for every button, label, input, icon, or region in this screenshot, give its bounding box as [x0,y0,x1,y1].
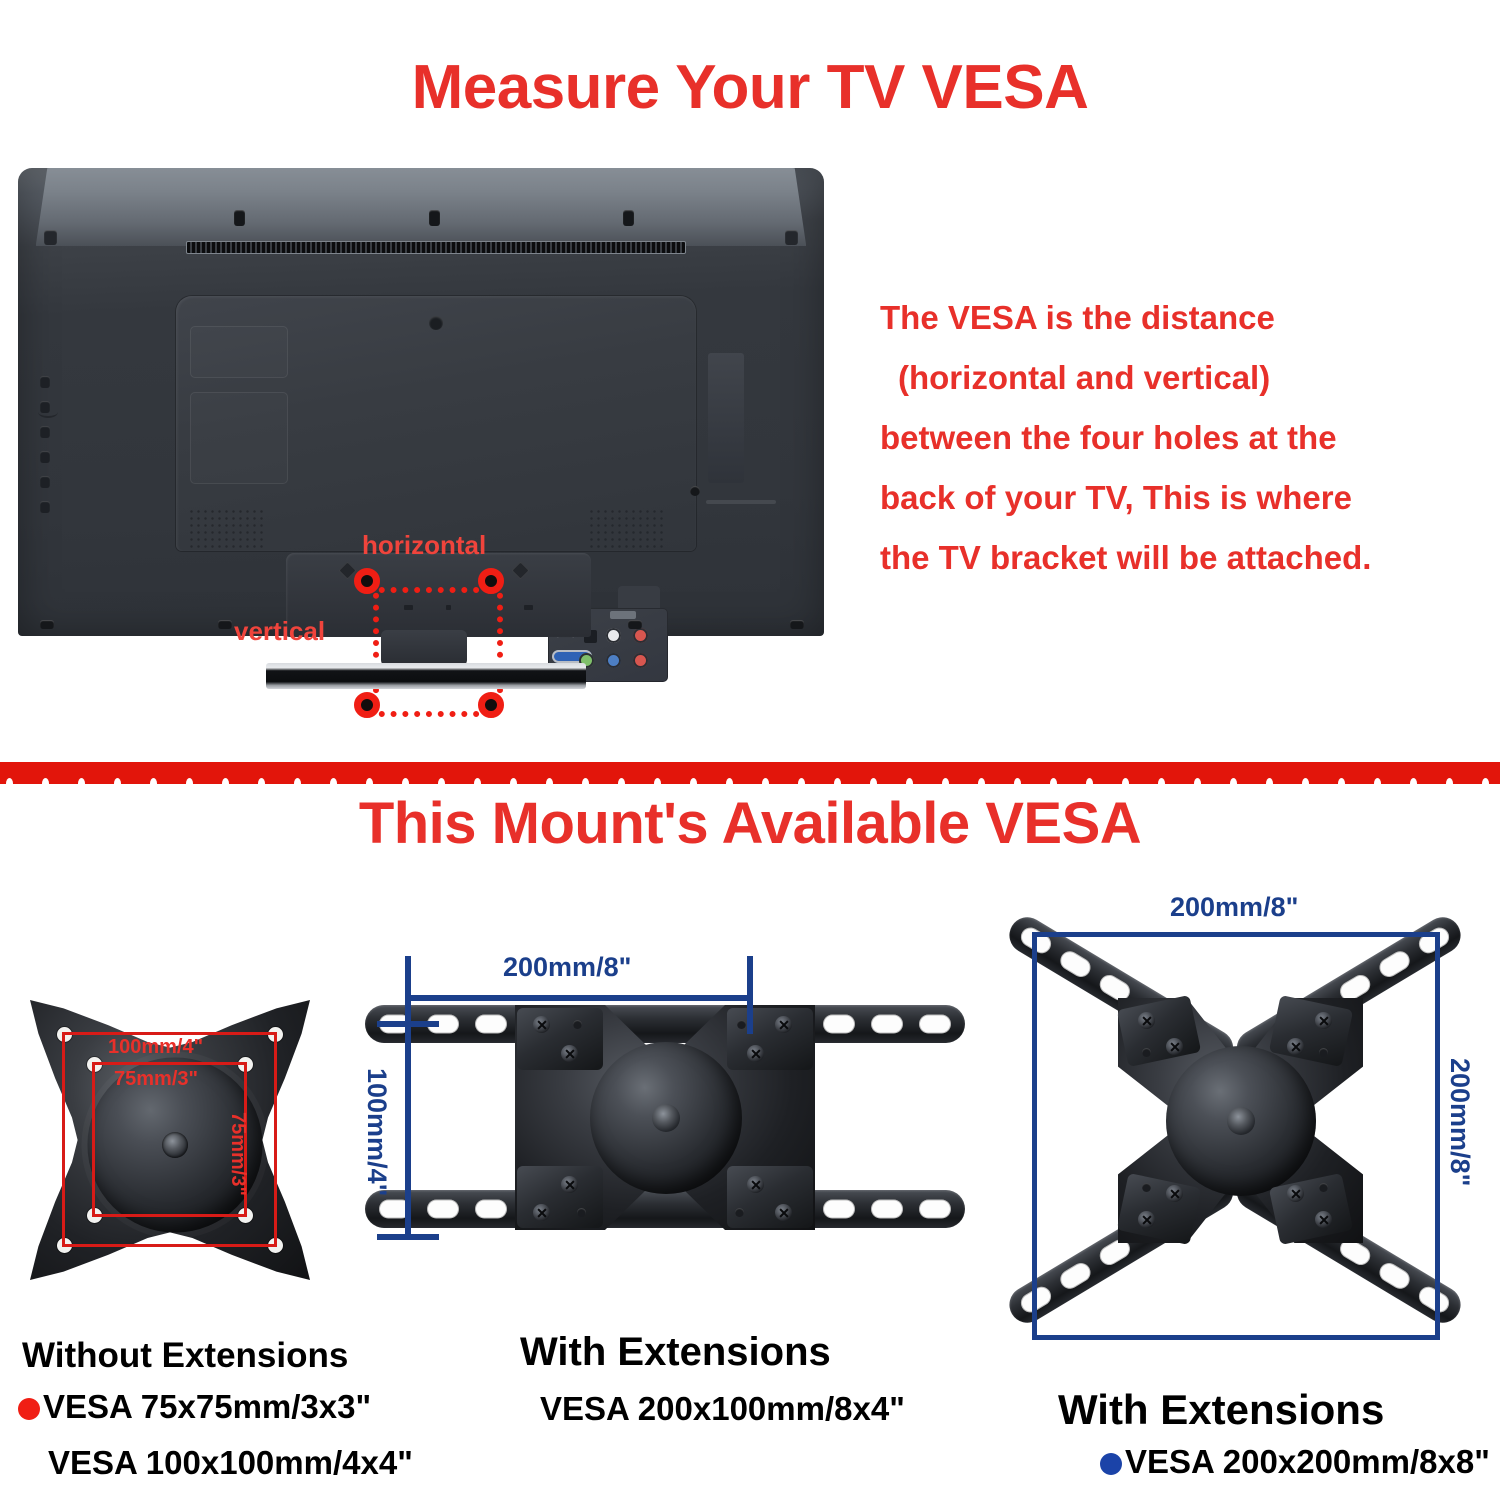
caption-title-3: With Extensions [1058,1386,1384,1434]
divider-notch [78,778,85,784]
rca-jack-icon [633,653,648,668]
divider-notch [438,778,445,784]
divider-notch [1158,778,1165,784]
dim-label-vertical: 100mm/4" [361,1068,392,1196]
arm-slot [919,1200,951,1219]
arm-slot [427,1200,459,1219]
dim-label-100: 100mm/4" [108,1036,203,1059]
tv-speaker-grille [188,508,266,548]
corner-pad [517,1166,603,1228]
corner-pad [727,1008,813,1070]
divider-notch [1230,778,1237,784]
tv-control-buttons [40,376,56,526]
caption-title-1: Without Extensions [22,1336,348,1376]
divider-notch [798,778,805,784]
rca-jack-icon [606,653,621,668]
vesa-horizontal-label: horizontal [362,530,486,561]
description-line: the TV bracket will be attached. [880,528,1490,588]
tv-speaker-grille [588,508,666,548]
plate-hole-icon [573,1020,582,1029]
divider-notch [870,778,877,784]
tv-screw-icon [429,210,440,226]
rca-jack-icon [633,628,648,643]
caption-text: VESA 200x200mm/8x8" [1125,1443,1490,1480]
tv-panel-seam [190,326,288,378]
tv-stand-base [266,663,586,689]
vesa-description: The VESA is the distance (horizontal and… [880,288,1490,588]
tv-screw-icon [690,486,700,496]
divider-notch [6,778,13,784]
divider-notch [942,778,949,784]
divider-notch [978,778,985,784]
arm-slot [919,1015,951,1034]
caption-vesa-2: VESA 200x100mm/8x4" [540,1390,905,1428]
vesa-hole-marker [478,692,504,718]
corner-pad [727,1166,813,1228]
divider-notch [150,778,157,784]
vesa-square-200 [1032,932,1440,1340]
vesa-vertical-label: vertical [234,616,325,647]
divider-notch [42,778,49,784]
extension-arm-top [365,1005,965,1043]
arm-slot [871,1200,903,1219]
bracket-with-extensions-200x200: 200mm/8" 200mm/8" [1000,890,1470,1350]
description-line: The VESA is the distance [880,288,1490,348]
arm-slot [871,1015,903,1034]
divider-notch [258,778,265,784]
arm-slot [823,1200,855,1219]
rca-jack-icon [606,628,621,643]
caption-vesa-3: VESA 200x200mm/8x8" [1100,1443,1490,1481]
caption-title-2: With Extensions [520,1330,831,1375]
divider-notch [906,778,913,784]
divider-notch [618,778,625,784]
dim-tick-top [377,1021,439,1027]
tv-stand-neck [381,630,467,666]
dim-line-vertical [405,995,411,1240]
screw-icon [561,1045,578,1062]
dim-tick-right [747,956,753,1034]
divider-notch [186,778,193,784]
extension-arm-bottom [365,1190,965,1228]
divider-notch [1338,778,1345,784]
vesa-hole-marker [354,692,380,718]
divider-notch [222,778,229,784]
tv-button-icon [40,501,50,513]
divider-notch [1374,778,1381,784]
tv-screw-icon [628,620,642,629]
bracket-with-extensions-200x100: 200mm/8" 100mm/4" [355,940,995,1300]
screw-icon [533,1016,550,1033]
divider-notch [474,778,481,784]
divider-notch [582,778,589,784]
dim-label-horizontal: 200mm/8" [503,952,631,983]
tv-screw-icon [40,620,54,629]
divider-notch [834,778,841,784]
tv-side-vent [706,500,776,504]
tv-screw-icon [234,210,245,226]
divider-notch [1122,778,1129,784]
screw-icon [533,1204,550,1221]
description-line: back of your TV, This is where [880,468,1490,528]
tv-button-icon [40,476,50,488]
caption-vesa-1a: VESA 75x75mm/3x3" [18,1388,371,1426]
tv-screw-icon [785,230,798,245]
tv-panel-seam [190,392,288,484]
tv-body: horizontal vertical [18,168,824,636]
tv-button-icon [40,451,50,463]
vesa-dash-bottom [367,711,491,717]
arm-slot [475,1015,507,1034]
red-bullet-icon [18,1398,40,1420]
dim-label-horizontal: 200mm/8" [1170,892,1298,923]
dim-label-75-vertical: 75mm/3" [226,1112,249,1196]
caption-vesa-1b: VESA 100x100mm/4x4" [48,1444,413,1482]
divider-notch [654,778,661,784]
vesa-hole-marker [478,568,504,594]
tv-label-mark [524,605,533,610]
divider-notch [366,778,373,784]
divider-notch [1266,778,1273,784]
vesa-dash-top [367,587,491,593]
caption-text: VESA 75x75mm/3x3" [43,1388,371,1425]
dim-tick-bottom [377,1234,439,1240]
description-line: between the four holes at the [880,408,1490,468]
tv-mount-hole-icon [511,561,529,579]
divider-notch [1014,778,1021,784]
page-title: Measure Your TV VESA [0,52,1500,123]
divider-notch [402,778,409,784]
screw-icon [747,1045,764,1062]
tv-side-rail [708,353,744,483]
tv-screw-icon [790,620,804,629]
bracket-without-extensions: 100mm/4" 75mm/3" 75mm/3" [30,1000,320,1290]
tv-screw-icon [218,620,232,629]
divider-notch [546,778,553,784]
dim-label-vertical: 200mm/8" [1444,1058,1475,1186]
plate-hole-icon [737,1020,746,1029]
divider-notch [726,778,733,784]
divider-notch [294,778,301,784]
divider-notch [1194,778,1201,784]
center-bolt-icon [652,1104,680,1132]
blue-bullet-icon [1100,1453,1122,1475]
arm-slot [475,1200,507,1219]
dim-line-horizontal [405,995,753,1001]
screw-icon [561,1176,578,1193]
screw-icon [775,1016,792,1033]
divider-notch [114,778,121,784]
tv-button-icon [40,426,50,438]
description-line: (horizontal and vertical) [880,348,1490,408]
tv-screw-icon [44,230,57,245]
divider-notch [330,778,337,784]
vesa-hole-marker [354,568,380,594]
section-divider [0,762,1500,784]
tv-screw-icon [623,210,634,226]
infographic-page: Measure Your TV VESA [0,0,1500,1500]
divider-notch [1086,778,1093,784]
screw-icon [747,1176,764,1193]
divider-notch [1410,778,1417,784]
tv-top-bevel [36,168,807,246]
plate-hole-icon [577,1208,586,1217]
plate-hole-icon [735,1208,744,1217]
tv-vent-slot [186,241,686,254]
divider-notch [1302,778,1309,784]
corner-pad [517,1008,603,1070]
tv-button-icon [40,376,50,388]
divider-notch [762,778,769,784]
tv-center-hole-icon [429,316,443,330]
arm-slot [823,1015,855,1034]
section-title: This Mount's Available VESA [0,790,1500,857]
divider-notch [510,778,517,784]
dim-label-75: 75mm/3" [114,1068,198,1091]
divider-notch [1050,778,1057,784]
divider-notch [690,778,697,784]
divider-notch [1482,778,1489,784]
hdmi-port-icon [610,611,636,619]
divider-notch [1446,778,1453,784]
tv-back-illustration: horizontal vertical [8,160,838,720]
screw-icon [775,1204,792,1221]
tv-jack-curve-icon [38,406,58,418]
